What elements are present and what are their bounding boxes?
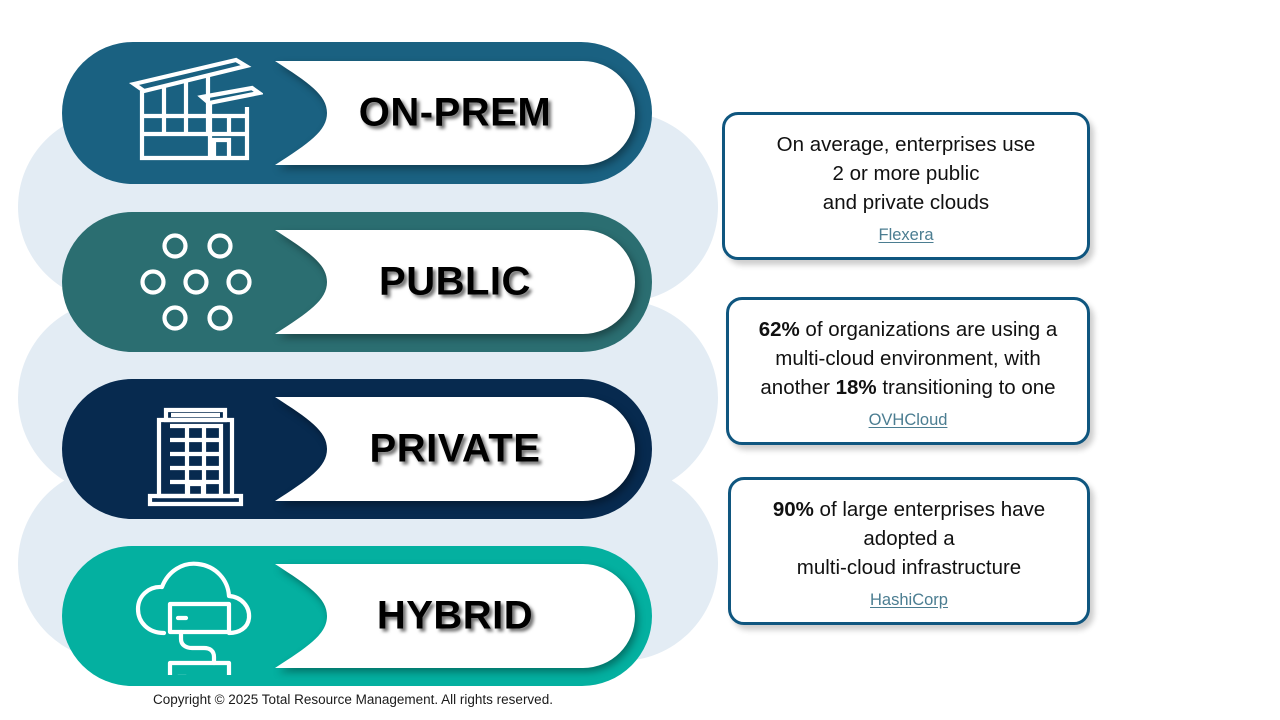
stat-line-3-prefix: another — [760, 376, 835, 399]
copyright-footer: Copyright © 2025 Total Resource Manageme… — [0, 692, 706, 707]
office-tower-icon — [128, 390, 263, 508]
cloud-servers-icon — [128, 557, 263, 675]
infographic-canvas: ON-PREM PUBLIC — [0, 0, 1280, 720]
stat-figure-18: 18% — [836, 376, 877, 399]
pill-label-public: PUBLIC — [275, 260, 635, 305]
network-dots-icon — [128, 223, 263, 341]
stat-figure-62: 62% — [759, 318, 800, 341]
stat-callout-flexera: On average, enterprises use 2 or more pu… — [722, 112, 1090, 260]
source-link-flexera[interactable]: Flexera — [878, 226, 933, 245]
stat-callout-text: 90% of large enterprises have adopted a … — [773, 495, 1045, 582]
stat-line-1: of large enterprises have — [814, 498, 1045, 521]
pill-label-hybrid: HYBRID — [275, 594, 635, 639]
stat-line-1: On average, enterprises use — [777, 133, 1036, 156]
stat-figure-90: 90% — [773, 498, 814, 521]
stat-line-1: of organizations are using a — [800, 318, 1058, 341]
stat-line-2: multi-cloud environment, with — [775, 347, 1040, 370]
source-link-ovhcloud[interactable]: OVHCloud — [869, 411, 948, 430]
stat-callout-text: 62% of organizations are using a multi-c… — [759, 315, 1058, 402]
pill-label-on-prem: ON-PREM — [275, 91, 635, 136]
pill-label-private: PRIVATE — [275, 427, 635, 472]
stat-line-2: 2 or more public — [833, 162, 980, 185]
stat-line-3: and private clouds — [823, 191, 989, 214]
stat-callout-ovhcloud: 62% of organizations are using a multi-c… — [726, 297, 1090, 445]
source-link-hashicorp[interactable]: HashiCorp — [870, 591, 948, 610]
stat-line-2: adopted a — [863, 527, 954, 550]
stat-line-3: multi-cloud infrastructure — [797, 556, 1021, 579]
stat-callout-text: On average, enterprises use 2 or more pu… — [777, 130, 1036, 217]
building-slanted-roof-icon — [128, 54, 263, 172]
stat-callout-hashicorp: 90% of large enterprises have adopted a … — [728, 477, 1090, 625]
stat-line-3-suffix: transitioning to one — [877, 376, 1056, 399]
